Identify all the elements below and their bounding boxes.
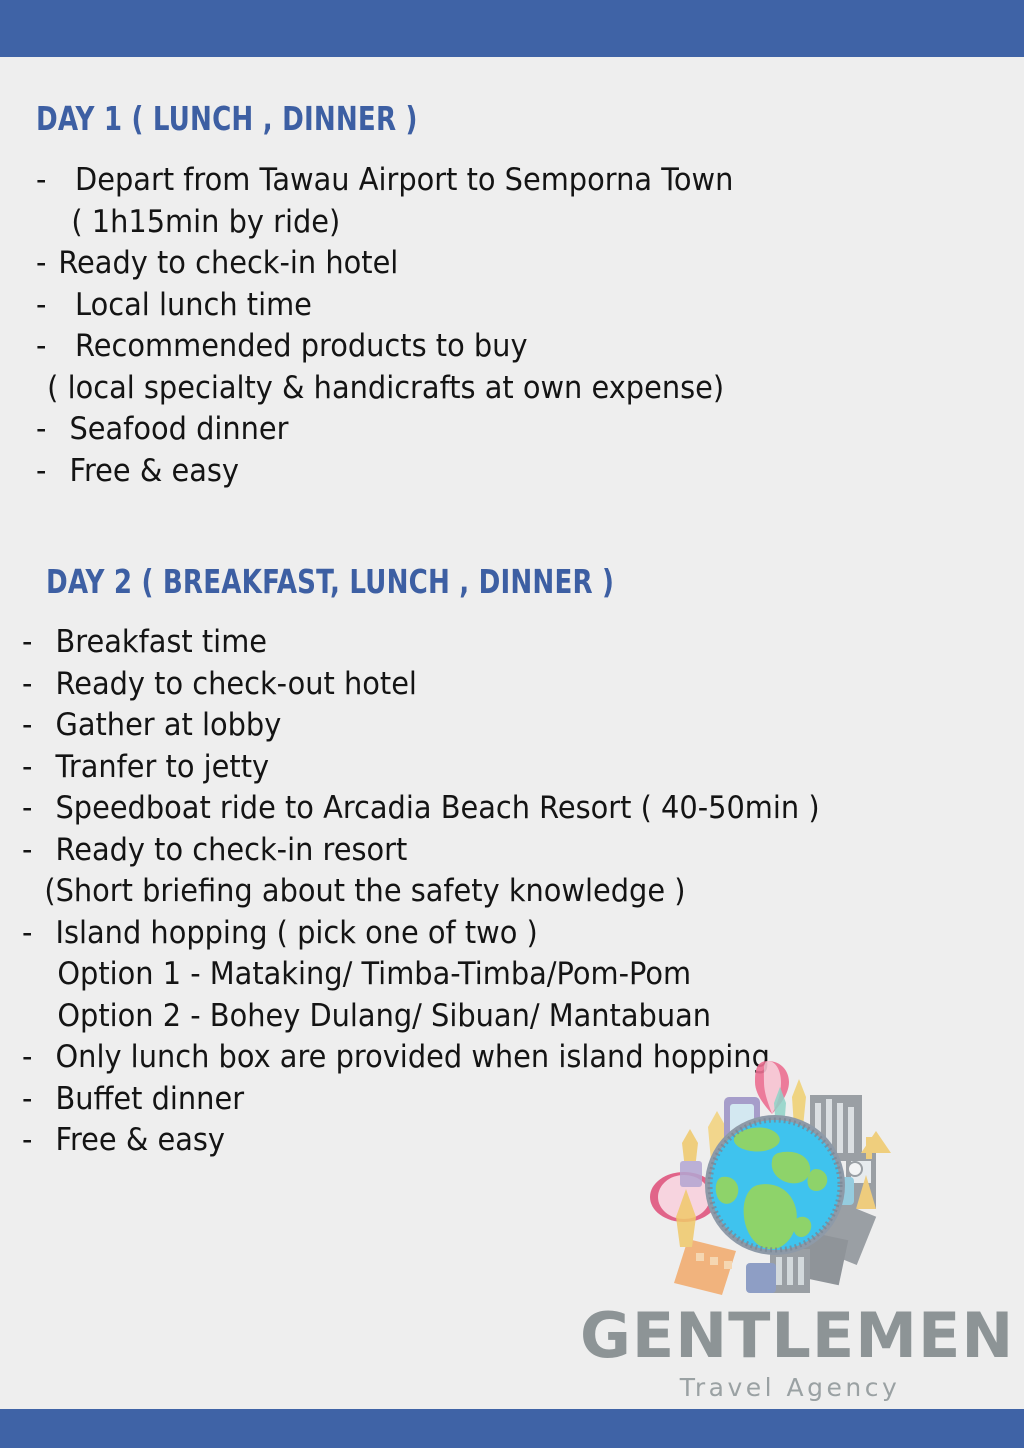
dash-bullet-icon: - <box>36 326 49 368</box>
brand-block: GENTLEMEN Travel Agency <box>580 1305 1000 1403</box>
itinerary-item-text: Tranfer to jetty <box>55 747 269 789</box>
dash-bullet-icon: - <box>36 409 49 451</box>
itinerary-item-text: ( 1h15min by ride) <box>71 202 340 244</box>
itinerary-content: DAY 1 ( LUNCH , DINNER ) -Depart from Ta… <box>0 57 1024 1409</box>
bottom-accent-bar <box>0 1409 1024 1448</box>
itinerary-item-text: Depart from Tawau Airport to Semporna To… <box>75 160 733 202</box>
dash-bullet-icon: - <box>22 1079 35 1121</box>
dash-bullet-icon: - <box>22 664 35 706</box>
itinerary-item-text: Breakfast time <box>55 622 267 664</box>
itinerary-subline: ( local specialty & handicrafts at own e… <box>36 368 929 410</box>
itinerary-item-text: Gather at lobby <box>55 705 281 747</box>
itinerary-item-text: Ready to check-in hotel <box>58 243 398 285</box>
itinerary-subline: (Short briefing about the safety knowled… <box>22 871 943 913</box>
itinerary-item: -Local lunch time <box>36 285 929 327</box>
dash-bullet-icon: - <box>36 243 49 285</box>
itinerary-item: -Ready to check-in resort <box>22 830 943 872</box>
itinerary-item: -Recommended products to buy <box>36 326 929 368</box>
dash-bullet-icon: - <box>36 160 49 202</box>
itinerary-item-text: Ready to check-out hotel <box>55 664 416 706</box>
top-accent-bar <box>0 0 1024 57</box>
itinerary-item: -Gather at lobby <box>22 705 943 747</box>
dash-bullet-icon: - <box>36 285 49 327</box>
dash-bullet-icon: - <box>36 451 49 493</box>
globe-landmarks-icon <box>650 1057 900 1307</box>
itinerary-item-text: Option 2 - Bohey Dulang/ Sibuan/ Mantabu… <box>57 996 711 1038</box>
itinerary-item: -Ready to check-in hotel <box>36 243 929 285</box>
dash-bullet-icon: - <box>22 747 35 789</box>
itinerary-page: DAY 1 ( LUNCH , DINNER ) -Depart from Ta… <box>0 0 1024 1448</box>
dash-bullet-icon: - <box>22 788 35 830</box>
itinerary-subline: Option 1 - Mataking/ Timba-Timba/Pom-Pom <box>22 954 943 996</box>
itinerary-item-text: Recommended products to buy <box>75 326 527 368</box>
itinerary-subline: ( 1h15min by ride) <box>36 202 929 244</box>
itinerary-item: -Depart from Tawau Airport to Semporna T… <box>36 160 929 202</box>
itinerary-item: -Speedboat ride to Arcadia Beach Resort … <box>22 788 943 830</box>
itinerary-item-text: ( local specialty & handicrafts at own e… <box>47 368 724 410</box>
itinerary-item-text: Local lunch time <box>75 285 312 327</box>
agency-logo: GENTLEMEN Travel Agency <box>580 1057 1000 1397</box>
itinerary-item-text: Seafood dinner <box>69 409 288 451</box>
itinerary-item-text: Option 1 - Mataking/ Timba-Timba/Pom-Pom <box>57 954 691 996</box>
itinerary-item-text: Island hopping ( pick one of two ) <box>55 913 537 955</box>
itinerary-item-text: Buffet dinner <box>55 1079 244 1121</box>
brand-tagline: Travel Agency <box>580 1373 1000 1403</box>
dash-bullet-icon: - <box>22 705 35 747</box>
itinerary-item-text: (Short briefing about the safety knowled… <box>44 871 685 913</box>
dash-bullet-icon: - <box>22 1037 35 1079</box>
itinerary-item-text: Speedboat ride to Arcadia Beach Resort (… <box>55 788 819 830</box>
itinerary-item: -Tranfer to jetty <box>22 747 943 789</box>
itinerary-subline: Option 2 - Bohey Dulang/ Sibuan/ Mantabu… <box>22 996 943 1038</box>
dash-bullet-icon: - <box>22 913 35 955</box>
itinerary-item: -Island hopping ( pick one of two ) <box>22 913 943 955</box>
itinerary-item-text: Ready to check-in resort <box>55 830 407 872</box>
brand-name: GENTLEMEN <box>580 1305 1000 1367</box>
itinerary-item: -Breakfast time <box>22 622 943 664</box>
itinerary-item: -Seafood dinner <box>36 409 929 451</box>
itinerary-item-text: Free & easy <box>55 1120 224 1162</box>
dash-bullet-icon: - <box>22 622 35 664</box>
itinerary-item: -Ready to check-out hotel <box>22 664 943 706</box>
itinerary-item: -Free & easy <box>36 451 929 493</box>
day-1-heading: DAY 1 ( LUNCH , DINNER ) <box>36 99 418 138</box>
day-1-item-list: -Depart from Tawau Airport to Semporna T… <box>36 160 996 492</box>
dash-bullet-icon: - <box>22 830 35 872</box>
itinerary-item-text: Free & easy <box>69 451 238 493</box>
day-2-heading: DAY 2 ( BREAKFAST, LUNCH , DINNER ) <box>46 562 614 601</box>
dash-bullet-icon: - <box>22 1120 35 1162</box>
